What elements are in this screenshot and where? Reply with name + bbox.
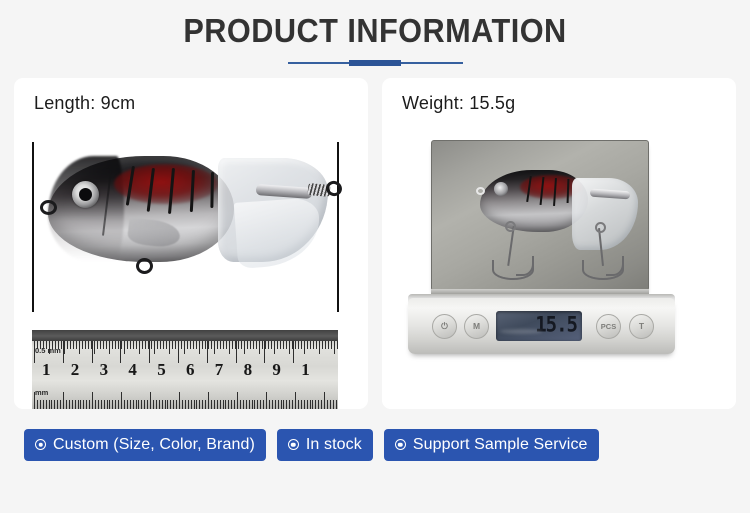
ruler-tick <box>170 400 171 409</box>
ruler-tick <box>208 341 209 349</box>
ruler-tick <box>193 341 194 349</box>
ruler-tick <box>130 400 131 409</box>
length-card-media: 0.5 mm mm 1234567891 <box>14 124 368 409</box>
ruler-tick <box>145 341 146 349</box>
length-card-title: Length: 9cm <box>14 78 368 114</box>
ruler-tick <box>307 341 308 349</box>
ruler-cm-tick <box>34 341 35 363</box>
ruler-tick <box>160 341 161 349</box>
ruler-tick <box>257 400 258 409</box>
ruler-tick <box>184 341 185 354</box>
ruler-tick <box>250 341 251 349</box>
ruler-tick <box>324 392 325 409</box>
ruler-tick <box>196 341 197 349</box>
ruler-number: 7 <box>215 360 224 380</box>
ruler-tick <box>144 400 145 409</box>
ruler-tick <box>190 341 191 349</box>
ruler-tick <box>157 341 158 349</box>
ruler-cm-tick <box>63 341 64 363</box>
ruler-tick <box>133 400 134 409</box>
ruler-number: 4 <box>128 360 137 380</box>
ruler-tick <box>281 400 282 409</box>
ruler-tick <box>104 400 105 409</box>
ruler-tick <box>286 400 287 409</box>
ruler-tick <box>40 400 41 409</box>
ruler-tick <box>243 400 244 409</box>
ruler-tick <box>159 400 160 409</box>
ruler-tick <box>214 341 215 354</box>
ruler-tick <box>176 400 177 409</box>
ruler-tick <box>237 392 238 409</box>
ruler-tick <box>289 341 290 354</box>
scale-lure-eye <box>494 182 508 196</box>
ruler-tick <box>263 400 264 409</box>
ruler-tick <box>72 400 73 409</box>
ruler-tick <box>136 400 137 409</box>
lure-nose-ring <box>40 200 57 215</box>
ruler-tick <box>228 400 229 409</box>
ruler-tick <box>283 400 284 409</box>
ruler-tick <box>66 400 67 409</box>
scale-display-value: 15.5 <box>535 313 577 338</box>
ruler-tick <box>179 392 180 409</box>
ruler-tick <box>70 341 71 349</box>
ruler-tick <box>298 341 299 349</box>
ruler-tick <box>97 341 98 349</box>
badge-sample-service[interactable]: Support Sample Service <box>384 429 599 461</box>
ruler-tick <box>283 341 284 349</box>
ruler-tick <box>208 392 209 409</box>
ruler-tick <box>115 341 116 349</box>
mode-button[interactable]: M <box>464 314 489 339</box>
ruler-tick <box>310 341 311 349</box>
ruler-tick <box>199 400 200 409</box>
ruler-tick <box>94 341 95 354</box>
ruler-tick <box>112 341 113 349</box>
ruler-tick <box>328 341 329 349</box>
ruler-tick <box>280 341 281 349</box>
ruler-tick <box>223 400 224 409</box>
ruler-tick <box>256 341 257 349</box>
scale-lcd-display: 15.5 <box>496 311 582 341</box>
digital-scale-photo: ⏻ M 15.5 PCS T <box>382 124 736 409</box>
ruler-photo: 0.5 mm mm 1234567891 <box>32 330 338 409</box>
ruler-tick <box>220 341 221 349</box>
ruler-tick <box>139 341 140 354</box>
ruler-tick <box>241 341 242 349</box>
ruler-tick <box>37 341 38 349</box>
lure-pupil <box>79 188 92 201</box>
ruler-tick <box>156 400 157 409</box>
ruler-tick <box>307 400 308 409</box>
ruler-tick <box>130 341 131 349</box>
ruler-number: 6 <box>186 360 195 380</box>
ruler-tick <box>49 400 50 409</box>
ruler-tick <box>202 341 203 349</box>
ruler-tick <box>334 341 335 354</box>
ruler-tick <box>337 341 338 349</box>
ruler-tick <box>181 341 182 349</box>
radio-icon <box>288 439 299 450</box>
ruler-tick <box>85 341 86 349</box>
ruler-number: 5 <box>157 360 166 380</box>
ruler-tick <box>333 400 334 409</box>
ruler-tick <box>75 400 76 409</box>
ruler-tick <box>133 341 134 349</box>
ruler-tick <box>244 341 245 354</box>
scale-body: ⏻ M 15.5 PCS T <box>408 298 675 354</box>
product-cards-row: Length: 9cm <box>0 67 750 409</box>
ruler-cm-tick <box>264 341 265 363</box>
ruler-tick <box>82 341 83 349</box>
ruler-tick <box>43 400 44 409</box>
ruler-tick <box>76 341 77 349</box>
badge-custom-label: Custom (Size, Color, Brand) <box>53 436 255 454</box>
ruler-tick <box>118 341 119 349</box>
ruler-tick <box>109 341 110 354</box>
ruler-tick <box>292 400 293 409</box>
ruler-tick <box>175 341 176 349</box>
ruler-tick <box>304 400 305 409</box>
ruler-tick <box>138 400 139 409</box>
ruler-cm-tick <box>207 341 208 363</box>
ruler-tick <box>188 400 189 409</box>
ruler-number: 1 <box>42 360 51 380</box>
ruler-tick <box>88 341 89 349</box>
ruler-tick <box>115 400 116 409</box>
ruler-tick <box>37 400 38 409</box>
ruler-tick <box>69 400 70 409</box>
ruler-tick <box>268 341 269 349</box>
ruler-tick <box>259 341 260 354</box>
ruler-tick <box>127 400 128 409</box>
ruler-tick <box>211 341 212 349</box>
ruler-tick <box>232 341 233 349</box>
lcd-glare <box>500 329 542 334</box>
ruler-label-mm: mm <box>35 388 48 397</box>
ruler-tick <box>277 341 278 349</box>
ruler-tick <box>304 341 305 354</box>
page-header: PRODUCT INFORMATION <box>0 0 750 67</box>
ruler-tick <box>220 400 221 409</box>
ruler-cm-tick <box>178 341 179 363</box>
ruler-tick <box>185 400 186 409</box>
feature-badges-row: Custom (Size, Color, Brand) In stock Sup… <box>0 409 750 461</box>
ruler-tick <box>172 341 173 349</box>
ruler-tick <box>54 400 55 409</box>
lure-on-scale <box>472 164 632 284</box>
ruler-tick <box>58 341 59 349</box>
weight-card-media: ⏻ M 15.5 PCS T <box>382 124 736 409</box>
ruler-tick <box>211 400 212 409</box>
ruler-tick <box>64 341 65 354</box>
ruler-tick <box>55 341 56 349</box>
ruler-tick <box>301 400 302 409</box>
badge-in-stock[interactable]: In stock <box>277 429 373 461</box>
ruler-tick <box>86 400 87 409</box>
ruler-cm-tick <box>236 341 237 363</box>
ruler-tick <box>166 341 167 349</box>
pcs-button[interactable]: PCS <box>596 314 621 339</box>
ruler-cm-tick <box>120 341 121 363</box>
radio-icon <box>35 439 46 450</box>
lure-tail-highlight <box>234 197 322 269</box>
ruler-tick <box>136 341 137 349</box>
ruler-number: 9 <box>272 360 281 380</box>
badge-in-stock-label: In stock <box>306 436 362 454</box>
ruler-tick <box>199 341 200 354</box>
front-hook-ring <box>505 221 516 232</box>
ruler-tick <box>101 400 102 409</box>
ruler-tick <box>46 400 47 409</box>
ruler-tick <box>310 400 311 409</box>
ruler-tick <box>229 341 230 354</box>
ruler-tick <box>162 400 163 409</box>
ruler-tick <box>240 400 241 409</box>
ruler-tick <box>278 400 279 409</box>
ruler-tick <box>43 341 44 349</box>
ruler-tick <box>83 400 84 409</box>
ruler-tick <box>289 400 290 409</box>
ruler-tick <box>80 400 81 409</box>
radio-icon <box>395 439 406 450</box>
ruler-tick <box>327 400 328 409</box>
ruler-tick <box>272 400 273 409</box>
ruler-tick <box>150 392 151 409</box>
ruler-tick <box>95 400 96 409</box>
ruler-tick <box>121 392 122 409</box>
ruler-tick <box>325 341 326 349</box>
ruler-label-half-mm: 0.5 mm <box>35 346 61 355</box>
ruler-number: 2 <box>71 360 80 380</box>
ruler-tick <box>154 341 155 354</box>
ruler-tick <box>202 400 203 409</box>
badge-sample-service-label: Support Sample Service <box>413 436 588 454</box>
ruler-tick <box>79 341 80 354</box>
ruler-tick <box>321 400 322 409</box>
ruler-tick <box>127 341 128 349</box>
ruler-tick <box>225 400 226 409</box>
lure-photo <box>14 124 368 330</box>
ruler-tick <box>106 341 107 349</box>
power-button[interactable]: ⏻ <box>432 314 457 339</box>
ruler-tick <box>269 400 270 409</box>
ruler-number: 3 <box>100 360 109 380</box>
title-divider <box>288 59 463 67</box>
ruler-tick <box>336 400 337 409</box>
ruler-tick <box>67 341 68 349</box>
ruler-number: 1 <box>301 360 310 380</box>
ruler-tick <box>322 341 323 349</box>
ruler-tick <box>301 341 302 349</box>
ruler-tick <box>315 400 316 409</box>
ruler-cm-tick <box>293 341 294 363</box>
ruler-tick <box>103 341 104 349</box>
ruler-tick <box>60 400 61 409</box>
ruler-tick <box>173 400 174 409</box>
length-card: Length: 9cm <box>14 78 368 409</box>
ruler-tick <box>40 341 41 349</box>
ruler-tick <box>98 400 99 409</box>
ruler-tick <box>165 400 166 409</box>
ruler-tick <box>274 341 275 354</box>
ruler-tick <box>286 341 287 349</box>
ruler-tick <box>169 341 170 354</box>
divider-thick-accent <box>349 60 401 66</box>
ruler-tick <box>187 341 188 349</box>
ruler-tick <box>89 400 90 409</box>
ruler-tick <box>57 400 58 409</box>
ruler-tick <box>253 341 254 349</box>
ruler-tick <box>73 341 74 349</box>
ruler-tick <box>124 341 125 354</box>
ruler-cm-tick <box>149 341 150 363</box>
ruler-tick <box>254 400 255 409</box>
ruler-tick <box>260 400 261 409</box>
ruler-tick <box>331 341 332 349</box>
ruler-tick <box>316 341 317 349</box>
ruler-tick <box>167 400 168 409</box>
ruler-tick <box>234 400 235 409</box>
ruler-tick <box>275 400 276 409</box>
rear-hook-ring <box>595 222 606 233</box>
ruler-tick <box>112 400 113 409</box>
ruler-tick <box>231 400 232 409</box>
page-title: PRODUCT INFORMATION <box>26 12 724 50</box>
ruler-tick <box>223 341 224 349</box>
ruler-tick <box>142 341 143 349</box>
ruler-tick <box>124 400 125 409</box>
fishing-lure-illustration <box>40 148 340 288</box>
ruler-tick <box>52 341 53 349</box>
ruler-tick <box>107 400 108 409</box>
lure-stripe <box>210 172 214 208</box>
ruler-tick <box>49 341 50 354</box>
ruler-tick <box>147 400 148 409</box>
badge-custom[interactable]: Custom (Size, Color, Brand) <box>24 429 266 461</box>
ruler-tick <box>319 341 320 354</box>
weight-card-title: Weight: 15.5g <box>382 78 736 114</box>
ruler-number: 8 <box>244 360 253 380</box>
ruler-tick <box>191 400 192 409</box>
ruler-tick <box>214 400 215 409</box>
ruler-tick <box>298 400 299 409</box>
ruler-tick <box>247 341 248 349</box>
ruler-tick <box>78 400 79 409</box>
ruler-tick <box>34 392 35 409</box>
ruler-cm-tick <box>92 341 93 363</box>
scale-lure-nose-ring <box>476 187 485 195</box>
ruler-tick <box>252 400 253 409</box>
ruler-tick <box>249 400 250 409</box>
ruler-tick <box>182 400 183 409</box>
ruler-tick <box>118 400 119 409</box>
lure-head-shading <box>48 156 124 262</box>
ruler-tick <box>205 400 206 409</box>
ruler-tick <box>109 400 110 409</box>
ruler-tick <box>262 341 263 349</box>
ruler-tick <box>271 341 272 349</box>
ruler-tick <box>46 341 47 349</box>
ruler-tick <box>163 341 164 349</box>
ruler-tick <box>141 400 142 409</box>
ruler-tick <box>217 341 218 349</box>
ruler-tick <box>313 341 314 349</box>
ruler-tick <box>63 392 64 409</box>
ruler-tick <box>92 392 93 409</box>
ruler-tick <box>153 400 154 409</box>
ruler-tick <box>266 392 267 409</box>
ruler-tick <box>295 392 296 409</box>
ruler-tick <box>226 341 227 349</box>
ruler-tick <box>238 341 239 349</box>
lure-belly-ring <box>136 258 153 274</box>
ruler-tick <box>100 341 101 349</box>
ruler-tick <box>312 400 313 409</box>
ruler-tick <box>217 400 218 409</box>
weight-card: Weight: 15.5g <box>382 78 736 409</box>
ruler-tick <box>330 400 331 409</box>
ruler-tick <box>246 400 247 409</box>
ruler-tick <box>51 400 52 409</box>
ruler-tick <box>318 400 319 409</box>
ruler-tick <box>151 341 152 349</box>
ruler-tick <box>196 400 197 409</box>
measure-guide-left <box>32 142 34 312</box>
ruler-dark-band <box>32 330 338 341</box>
tare-button[interactable]: T <box>629 314 654 339</box>
ruler-tick <box>194 400 195 409</box>
ruler-tick <box>295 341 296 349</box>
